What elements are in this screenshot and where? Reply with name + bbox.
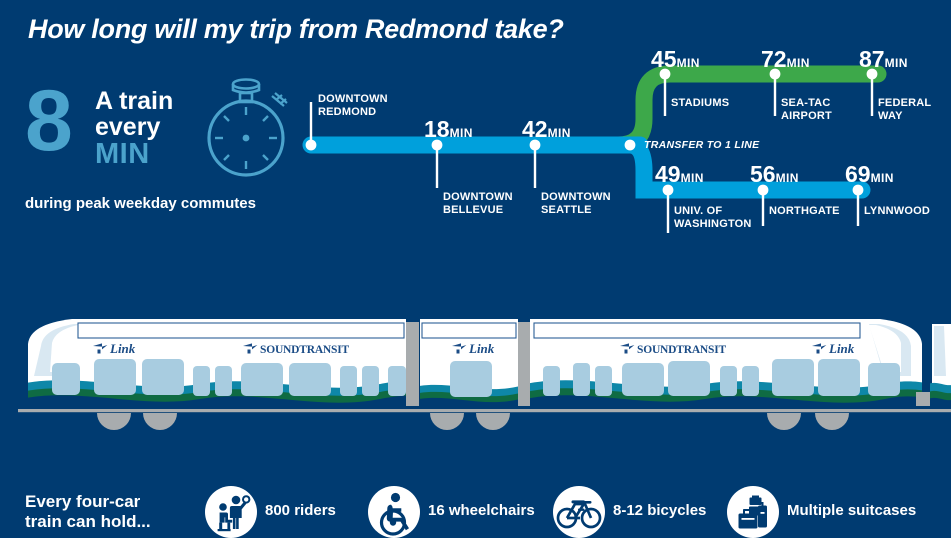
station-time-downtown-seattle: 42MIN bbox=[522, 118, 571, 145]
station-label-downtown-seattle: DOWNTOWN SEATTLE bbox=[541, 191, 611, 216]
unit-min: MIN bbox=[776, 171, 799, 185]
capacity-row: Every four-car train can hold... bbox=[0, 238, 951, 308]
station-time-univ-washington: 49MIN bbox=[655, 163, 704, 190]
capacity-label-bicycle: 8-12 bicycles bbox=[613, 502, 706, 519]
unit-min: MIN bbox=[787, 56, 810, 70]
unit-min: MIN bbox=[677, 56, 700, 70]
station-label-seatac-airport: SEA-TAC AIRPORT bbox=[781, 97, 832, 122]
unit-min: MIN bbox=[871, 171, 894, 185]
station-label-stadiums: STADIUMS bbox=[671, 97, 729, 110]
riders-icon bbox=[205, 486, 257, 538]
train-wheels bbox=[97, 413, 849, 430]
capacity-title-line1: Every four-car bbox=[25, 492, 140, 511]
unit-min: MIN bbox=[681, 171, 704, 185]
station-label-federal-way: FEDERAL WAY bbox=[878, 97, 931, 122]
unit-min: MIN bbox=[548, 126, 571, 140]
train-car-d bbox=[928, 324, 951, 410]
svg-text:Link: Link bbox=[468, 341, 495, 356]
svg-text:Link: Link bbox=[828, 341, 855, 356]
route-diagram: DOWNTOWN REDMOND 18MIN DOWNTOWN BELLEVUE… bbox=[0, 40, 951, 250]
station-time-lynnwood: 69MIN bbox=[845, 163, 894, 190]
station-label-lynnwood: LYNNWOOD bbox=[864, 205, 930, 218]
capacity-title: Every four-car train can hold... bbox=[25, 492, 151, 532]
unit-min: MIN bbox=[885, 56, 908, 70]
capacity-label-suitcase: Multiple suitcases bbox=[787, 502, 916, 519]
svg-text:Link: Link bbox=[109, 341, 136, 356]
capacity-label-riders: 800 riders bbox=[265, 502, 336, 519]
train-car-a: Link SOUNDTRANSIT bbox=[20, 319, 440, 410]
unit-min: MIN bbox=[450, 126, 473, 140]
train-illustration: Link SOUNDTRANSIT Link bbox=[0, 310, 951, 452]
capacity-title-line2: train can hold... bbox=[25, 512, 151, 531]
infographic-root: How long will my trip from Redmond take?… bbox=[0, 0, 951, 452]
suitcase-icon bbox=[727, 486, 779, 538]
train-car-b: Link bbox=[410, 319, 530, 410]
svg-text:SOUNDTRANSIT: SOUNDTRANSIT bbox=[637, 344, 727, 356]
station-time-stadiums: 45MIN bbox=[651, 48, 700, 75]
station-time-federal-way: 87MIN bbox=[859, 48, 908, 75]
station-label-downtown-redmond: DOWNTOWN REDMOND bbox=[318, 93, 388, 118]
wheelchair-icon bbox=[368, 486, 420, 538]
capacity-label-wheelchair: 16 wheelchairs bbox=[428, 502, 535, 519]
station-time-downtown-bellevue: 18MIN bbox=[424, 118, 473, 145]
transfer-note: TRANSFER TO 1 LINE bbox=[644, 139, 759, 151]
bicycle-icon bbox=[553, 486, 605, 538]
train-car-c: SOUNDTRANSIT Link bbox=[525, 319, 930, 410]
station-label-univ-washington: UNIV. OF WASHINGTON bbox=[674, 205, 752, 230]
station-time-seatac-airport: 72MIN bbox=[761, 48, 810, 75]
station-time-northgate: 56MIN bbox=[750, 163, 799, 190]
svg-text:SOUNDTRANSIT: SOUNDTRANSIT bbox=[260, 344, 350, 356]
station-label-northgate: NORTHGATE bbox=[769, 205, 840, 218]
station-label-downtown-bellevue: DOWNTOWN BELLEVUE bbox=[443, 191, 513, 216]
